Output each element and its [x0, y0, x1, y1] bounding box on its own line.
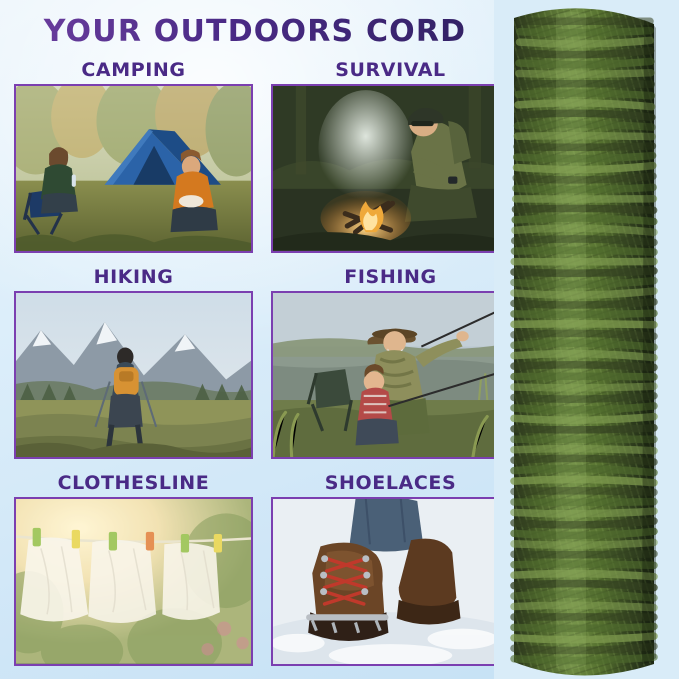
product-image: YOUR OUTDOORS CORD CAMPING	[0, 0, 679, 679]
fishing-photo	[271, 291, 510, 460]
use-case-label: CAMPING	[14, 56, 253, 84]
camping-photo	[14, 84, 253, 253]
use-case-survival: SURVIVAL	[271, 56, 510, 253]
hiking-photo	[14, 291, 253, 460]
use-case-label: SURVIVAL	[271, 56, 510, 84]
survival-illustration	[273, 86, 508, 251]
shoelaces-photo	[271, 497, 510, 666]
page-title: YOUR OUTDOORS CORD	[0, 14, 510, 49]
clothesline-illustration	[16, 499, 251, 664]
hiking-illustration	[16, 293, 251, 458]
fishing-illustration	[273, 293, 508, 458]
use-case-collage: YOUR OUTDOORS CORD CAMPING	[0, 0, 520, 679]
survival-photo	[271, 84, 510, 253]
use-case-label: SHOELACES	[271, 469, 510, 497]
use-case-hiking: HIKING	[14, 263, 253, 460]
use-case-clothesline: CLOTHESLINE	[14, 469, 253, 666]
use-case-fishing: FISHING	[271, 263, 510, 460]
use-case-grid: CAMPING	[14, 56, 510, 666]
use-case-label: HIKING	[14, 263, 253, 291]
paracord-coil	[494, 0, 679, 679]
use-case-label: CLOTHESLINE	[14, 469, 253, 497]
paracord-illustration	[494, 0, 679, 679]
use-case-shoelaces: SHOELACES	[271, 469, 510, 666]
use-case-camping: CAMPING	[14, 56, 253, 253]
camping-illustration	[16, 86, 251, 251]
use-case-label: FISHING	[271, 263, 510, 291]
clothesline-photo	[14, 497, 253, 666]
shoelaces-illustration	[273, 499, 508, 664]
